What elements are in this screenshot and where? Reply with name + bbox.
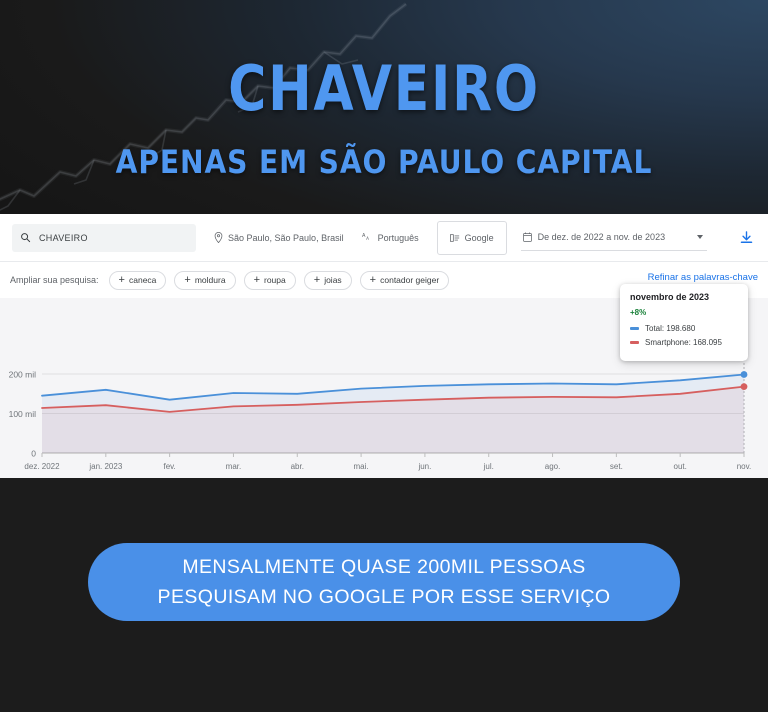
- chip-caneca[interactable]: + caneca: [109, 271, 167, 290]
- location-label: São Paulo, São Paulo, Brasil: [228, 233, 344, 243]
- translate-icon: A A: [362, 232, 373, 243]
- cta-line-1: MENSALMENTE QUASE 200MIL PESSOAS: [182, 554, 585, 580]
- source-selector[interactable]: Google: [437, 221, 507, 255]
- svg-text:fev.: fev.: [163, 462, 175, 471]
- tooltip-delta: +8%: [630, 308, 738, 317]
- landing-page: CHAVEIRO APENAS EM SÃO PAULO CAPITAL CHA…: [0, 0, 768, 712]
- svg-text:jun.: jun.: [417, 462, 431, 471]
- svg-text:100 mil: 100 mil: [9, 409, 37, 419]
- svg-text:jul.: jul.: [483, 462, 494, 471]
- chip-label: joias: [324, 275, 341, 285]
- tooltip-smartphone-label: Smartphone: 168.095: [645, 338, 722, 347]
- location-filter[interactable]: São Paulo, São Paulo, Brasil: [214, 232, 344, 243]
- page-title: CHAVEIRO: [61, 58, 706, 120]
- legend-swatch-smartphone: [630, 341, 639, 344]
- calendar-icon: [523, 232, 532, 242]
- svg-text:ago.: ago.: [545, 462, 561, 471]
- svg-text:A: A: [362, 233, 366, 239]
- date-range-selector[interactable]: De dez. de 2022 a nov. de 2023: [521, 225, 707, 251]
- svg-text:0: 0: [31, 449, 36, 459]
- cta-line-2: PESQUISAM NO GOOGLE POR ESSE SERVIÇO: [158, 584, 611, 610]
- chart-tooltip: novembro de 2023 +8% Total: 198.680 Smar…: [620, 284, 748, 361]
- svg-text:jan. 2023: jan. 2023: [88, 462, 122, 471]
- chip-label: caneca: [129, 275, 156, 285]
- search-value: CHAVEIRO: [39, 233, 88, 243]
- svg-text:mai.: mai.: [354, 462, 369, 471]
- chip-label: contador geiger: [380, 275, 439, 285]
- svg-text:abr.: abr.: [291, 462, 304, 471]
- language-label: Português: [378, 233, 419, 243]
- chevron-down-icon[interactable]: [697, 235, 703, 239]
- svg-text:200 mil: 200 mil: [9, 370, 37, 380]
- tooltip-row-smartphone: Smartphone: 168.095: [630, 338, 738, 347]
- svg-text:out.: out.: [674, 462, 687, 471]
- svg-text:dez. 2022: dez. 2022: [24, 462, 60, 471]
- tooltip-title: novembro de 2023: [630, 292, 738, 302]
- page-subtitle: APENAS EM SÃO PAULO CAPITAL: [46, 146, 722, 178]
- svg-text:A: A: [366, 236, 369, 241]
- download-icon: [739, 230, 754, 245]
- chip-roupa[interactable]: + roupa: [244, 271, 296, 290]
- language-filter[interactable]: A A Português: [362, 232, 419, 243]
- cta-banner[interactable]: MENSALMENTE QUASE 200MIL PESSOAS PESQUIS…: [88, 543, 680, 621]
- source-label: Google: [465, 233, 494, 243]
- chip-joias[interactable]: + joias: [304, 271, 352, 290]
- search-icon: [20, 232, 31, 243]
- legend-swatch-total: [630, 327, 639, 330]
- download-button[interactable]: [739, 230, 754, 245]
- chip-label: moldura: [195, 275, 226, 285]
- chip-moldura[interactable]: + moldura: [174, 271, 235, 290]
- tooltip-row-total: Total: 198.680: [630, 324, 738, 333]
- svg-text:mar.: mar.: [226, 462, 242, 471]
- svg-text:set.: set.: [610, 462, 623, 471]
- plus-icon: +: [184, 275, 190, 286]
- search-input[interactable]: CHAVEIRO: [12, 224, 196, 252]
- refine-keywords-link[interactable]: Refinar as palavras-chave: [648, 272, 758, 283]
- trends-toolbar: CHAVEIRO São Paulo, São Paulo, Brasil A …: [0, 214, 768, 262]
- plus-icon: +: [370, 275, 376, 286]
- tooltip-total-label: Total: 198.680: [645, 324, 695, 333]
- location-pin-icon: [214, 232, 223, 243]
- hero-section: CHAVEIRO APENAS EM SÃO PAULO CAPITAL: [0, 0, 768, 214]
- plus-icon: +: [254, 275, 260, 286]
- chip-contador-geiger[interactable]: + contador geiger: [360, 271, 450, 290]
- date-range-label: De dez. de 2022 a nov. de 2023: [538, 232, 665, 242]
- chip-label: roupa: [264, 275, 286, 285]
- svg-text:nov.: nov.: [737, 462, 752, 471]
- plus-icon: +: [314, 275, 320, 286]
- plus-icon: +: [119, 275, 125, 286]
- expand-search-label: Ampliar sua pesquisa:: [10, 275, 99, 285]
- google-search-icon: [450, 233, 460, 243]
